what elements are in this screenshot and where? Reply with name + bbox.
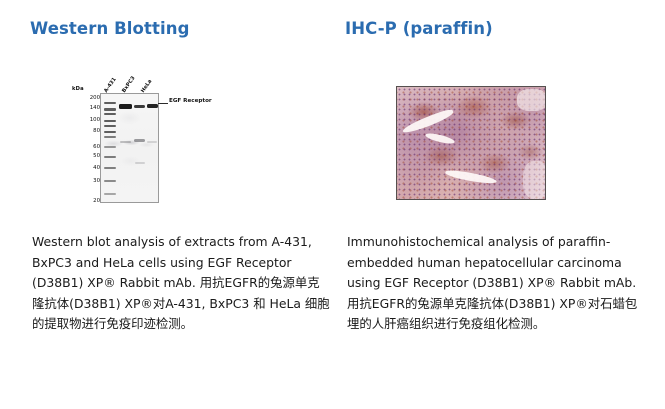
lane-label: HeLa [140, 79, 153, 94]
marker-band [104, 131, 116, 133]
target-band-lane-1 [119, 104, 132, 109]
ladder-label: 40 [93, 165, 100, 171]
page-title-western-blotting: Western Blotting [30, 19, 190, 38]
ladder-label: 20 [93, 198, 100, 204]
molecular-weight-ladder-labels: 200 140 100 80 60 50 40 30 20 [70, 93, 100, 203]
target-pointer-icon [158, 103, 168, 104]
sinusoid-space [523, 161, 546, 199]
ihc-micrograph-image [396, 86, 546, 200]
blot-membrane [100, 93, 159, 203]
lane-label: A-431 [103, 77, 118, 94]
blot-image: kDa 200 140 100 80 60 50 40 30 20 A-431 … [70, 72, 300, 212]
ihc-figure [345, 72, 655, 212]
target-band-lane-2 [134, 105, 145, 108]
ladder-label: 200 [90, 95, 100, 101]
ladder-label: 60 [93, 144, 100, 150]
faint-band-lane-3 [147, 141, 157, 143]
marker-band [104, 193, 116, 195]
marker-band [104, 125, 116, 127]
marker-band [104, 180, 116, 182]
marker-band [104, 167, 116, 169]
faint-band-lane-2 [134, 139, 145, 142]
marker-band [104, 113, 116, 115]
marker-band [104, 156, 116, 158]
page-title-ihc-p: IHC-P (paraffin) [345, 19, 493, 38]
panel-western-blotting: Western Blotting kDa 200 140 100 80 60 5… [30, 0, 340, 409]
ladder-label: 80 [93, 128, 100, 134]
page-root: Western Blotting kDa 200 140 100 80 60 5… [0, 0, 665, 409]
lane-labels: A-431 BxPC3 HeLa [102, 72, 182, 94]
target-band-lane-3 [147, 104, 158, 108]
kda-unit-label: kDa [72, 86, 84, 92]
faint-band-lower [135, 162, 145, 164]
target-protein-label: EGF Receptor [169, 98, 212, 104]
ladder-label: 30 [93, 178, 100, 184]
ladder-label: 140 [90, 105, 100, 111]
panel-ihc-p: IHC-P (paraffin) Immunohistochemical ana… [345, 0, 655, 409]
ladder-label: 50 [93, 153, 100, 159]
lane-label: BxPC3 [121, 75, 137, 94]
ladder-label: 100 [90, 117, 100, 123]
marker-band [104, 146, 116, 148]
sinusoid-space [517, 89, 546, 111]
caption-western-blotting: Western blot analysis of extracts from A… [32, 232, 332, 335]
marker-band [104, 136, 116, 138]
western-blot-figure: kDa 200 140 100 80 60 50 40 30 20 A-431 … [30, 72, 340, 212]
marker-band [104, 108, 116, 111]
caption-ihc-p: Immunohistochemical analysis of paraffin… [347, 232, 647, 335]
